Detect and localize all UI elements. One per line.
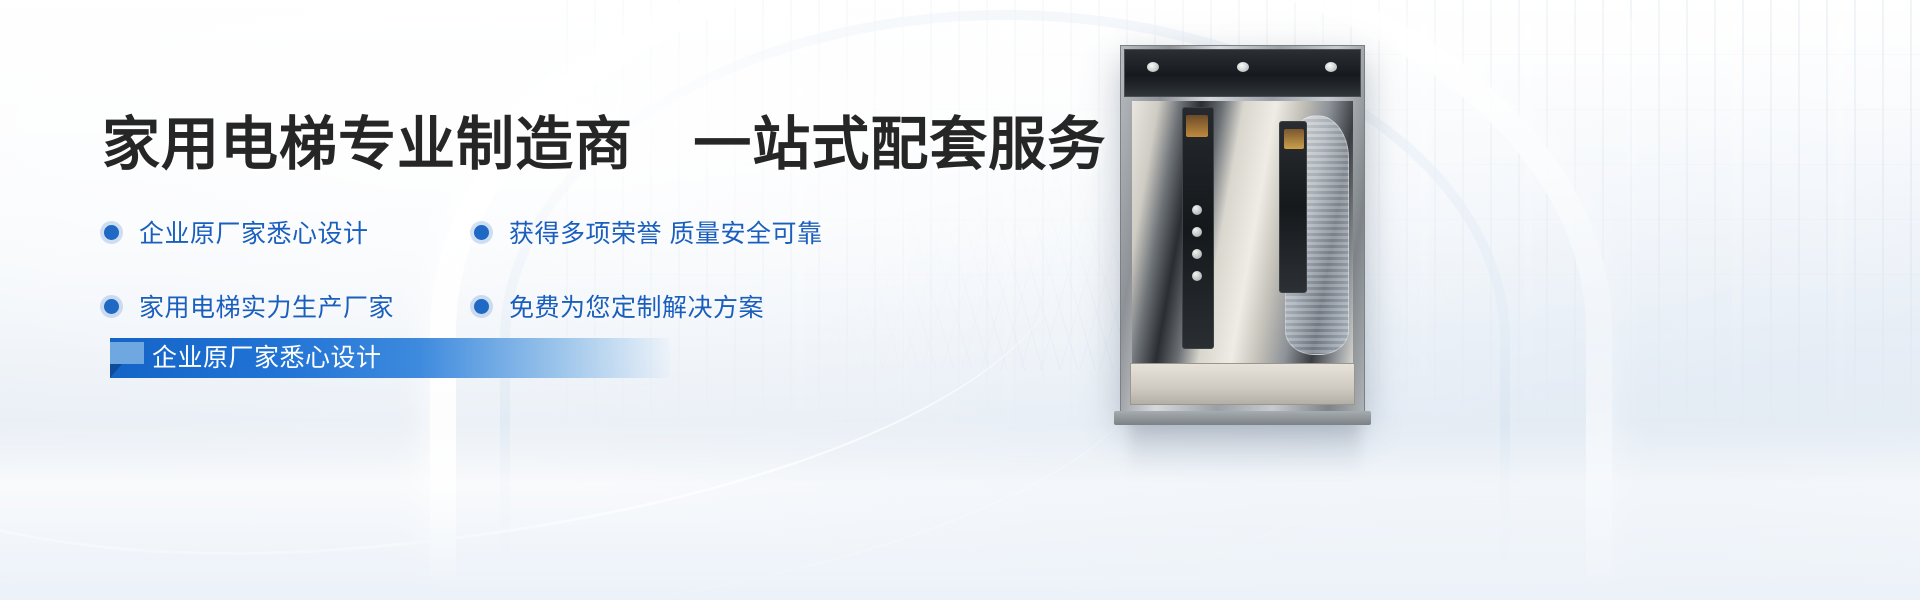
elevator-button-icon [1192,249,1202,259]
elevator-display-screen [1186,115,1208,137]
bullet-dot-icon [104,299,119,314]
ribbon-tab-icon [110,342,144,364]
promo-banner: 家用电梯专业制造商 一站式配套服务 企业原厂家悉心设计 获得多项荣誉 质量安全可… [0,0,1920,600]
feature-item-2: 获得多项荣誉 质量安全可靠 [474,214,904,250]
feature-row: 企业原厂家悉心设计 获得多项荣誉 质量安全可靠 [104,214,964,250]
feature-item-1: 企业原厂家悉心设计 [104,214,474,250]
elevator-button-icon [1192,227,1202,237]
elevator-button-icon [1192,205,1202,215]
ribbon-label: 企业原厂家悉心设计 [152,338,382,378]
elevator-button-icon [1192,271,1202,281]
feature-item-3: 家用电梯实力生产厂家 [104,288,474,324]
elevator-light-icon [1147,62,1159,72]
headline-part-1: 家用电梯专业制造商 [102,112,633,177]
elevator-floor-tile [1130,363,1355,405]
feature-item-1-label: 企业原厂家悉心设计 [139,214,369,250]
elevator-light-icon [1325,62,1337,72]
highlight-ribbon[interactable]: 企业原厂家悉心设计 [110,338,670,378]
elevator-light-icon [1237,62,1249,72]
feature-item-3-label: 家用电梯实力生产厂家 [139,288,394,324]
home-elevator-image [1120,45,1365,415]
bullet-dot-icon [474,225,489,240]
elevator-base-plinth [1114,411,1371,425]
elevator-secondary-display [1284,129,1304,149]
bullet-dot-icon [104,225,119,240]
feature-row: 家用电梯实力生产厂家 免费为您定制解决方案 [104,288,964,324]
feature-item-4: 免费为您定制解决方案 [474,288,904,324]
bullet-dot-icon [474,299,489,314]
elevator-header-box [1124,49,1361,97]
banner-content: 家用电梯专业制造商 一站式配套服务 企业原厂家悉心设计 获得多项荣誉 质量安全可… [0,0,1100,600]
feature-item-4-label: 免费为您定制解决方案 [509,288,764,324]
feature-item-2-label: 获得多项荣誉 质量安全可靠 [509,214,822,250]
feature-list: 企业原厂家悉心设计 获得多项荣誉 质量安全可靠 家用电梯实力生产厂家 免费为您定… [104,214,964,324]
banner-headline: 家用电梯专业制造商 一站式配套服务 [102,116,1106,174]
headline-part-2: 一站式配套服务 [693,112,1106,177]
